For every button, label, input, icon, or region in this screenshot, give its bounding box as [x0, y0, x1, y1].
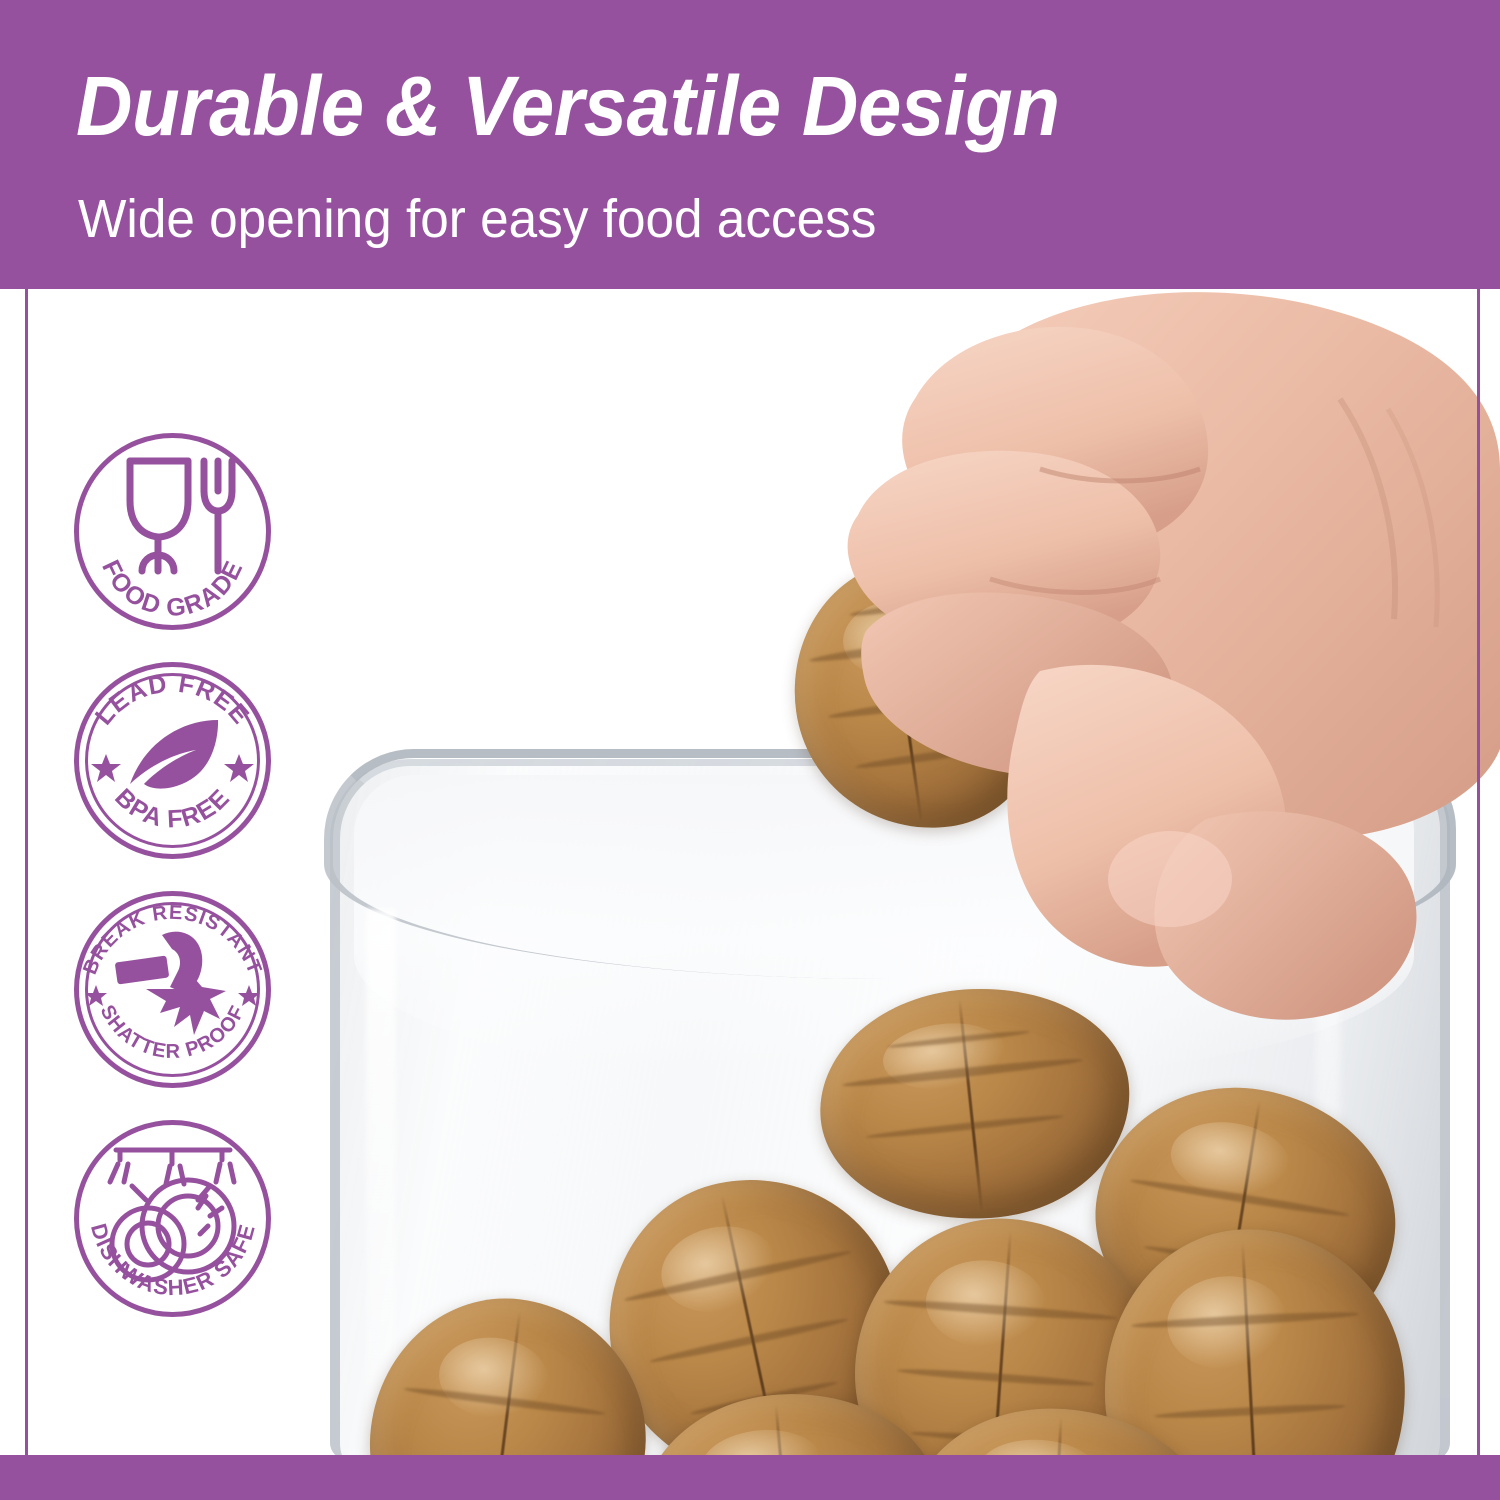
badge-break-resistant-shatter-proof[interactable]: BREAK RESISTANT SHATTER PROOF — [70, 887, 275, 1092]
badge-bottom-text: BPA FREE — [109, 783, 235, 833]
wine-glass-and-fork-icon — [130, 461, 188, 571]
container-highlight-left — [366, 909, 396, 1429]
badge-lead-free-bpa-free[interactable]: LEAD FREE BPA FREE — [70, 658, 275, 863]
left-frame-rule — [25, 289, 28, 1456]
footer-bar — [0, 1455, 1500, 1500]
badge-dishwasher-safe[interactable]: DISHWASHER SAFE — [70, 1116, 275, 1321]
badge-bottom-text: SHATTER PROOF — [96, 1002, 250, 1063]
badge-food-grade[interactable]: FOOD GRADE — [70, 429, 275, 634]
badge-bottom-text: DISHWASHER SAFE — [86, 1221, 260, 1301]
star-icon — [224, 754, 254, 782]
certification-badges: FOOD GRADE — [70, 429, 285, 1345]
page-subtitle: Wide opening for easy food access — [78, 186, 876, 252]
product-photo: FOOD GRADE — [0, 289, 1500, 1455]
page-title: Durable & Versatile Design — [76, 58, 1060, 154]
leaf-icon — [130, 720, 218, 789]
hand — [740, 289, 1500, 1039]
header-banner: Durable & Versatile Design Wide opening … — [0, 0, 1500, 289]
fork-icon — [204, 461, 232, 571]
product-feature-image: Durable & Versatile Design Wide opening … — [0, 0, 1500, 1500]
star-icon — [91, 754, 121, 782]
dishwasher-icon — [110, 1150, 234, 1200]
right-frame-rule — [1477, 289, 1480, 1456]
badge-top-text: LEAD FREE — [90, 670, 255, 731]
